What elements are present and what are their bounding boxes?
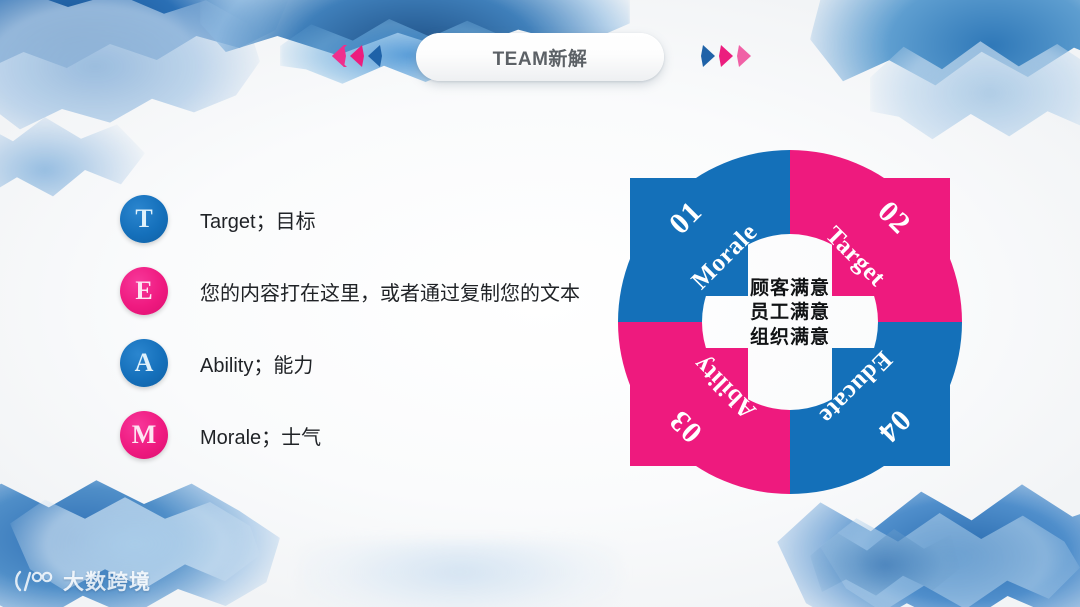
chevron-left-icon: [348, 44, 365, 68]
chevron-group-left: [330, 44, 383, 68]
watermark-label: 大数跨境: [63, 566, 151, 596]
chevron-group-right: [700, 44, 753, 68]
donut-center-text: 顾客满意 员工满意 组织满意: [700, 277, 880, 350]
chevron-left-icon: [366, 44, 383, 68]
list-item-label: Morale；士气: [200, 421, 321, 450]
watercolor-splash-bottom-right-accent: [810, 520, 960, 607]
letter-badge-a: A: [120, 339, 168, 387]
center-line-1: 顾客满意: [700, 277, 880, 301]
slide-title-pill: TEAM新解: [416, 33, 664, 81]
letter-badge-m: M: [120, 411, 168, 459]
center-line-3: 组织满意: [700, 326, 880, 350]
watercolor-splash-bottom-center: [300, 540, 620, 607]
list-item-label: Target；目标: [200, 205, 316, 234]
letter-badge-e: E: [120, 267, 168, 315]
watercolor-splash-top-right: [810, 0, 1080, 140]
chevron-left-icon: [330, 44, 347, 68]
chevron-right-icon: [736, 44, 753, 68]
list-item[interactable]: E 您的内容打在这里，或者通过复制您的文本: [120, 264, 590, 318]
chevron-right-icon: [700, 44, 717, 68]
watercolor-splash-top-left: [0, 0, 290, 120]
watercolor-splash-bottom-right-soft: [820, 500, 1080, 607]
list-item[interactable]: M Morale；士气: [120, 408, 590, 462]
list-item-label: 您的内容打在这里，或者通过复制您的文本: [200, 277, 580, 306]
slide-canvas: TEAM新解 T Target；目标 E 您的内容打在这里，或者通过复制您的文本…: [0, 0, 1080, 607]
page-title: TEAM新解: [493, 44, 588, 71]
chevron-right-icon: [718, 44, 735, 68]
watercolor-splash-top-left-soft: [0, 0, 260, 160]
letter-badge-t: T: [120, 195, 168, 243]
brand-logo-icon: [14, 569, 56, 593]
center-line-2: 员工满意: [700, 301, 880, 325]
list-item[interactable]: T Target；目标: [120, 192, 590, 246]
list-item-label: Ability；能力: [200, 349, 313, 378]
watermark: 大数跨境: [14, 566, 151, 596]
team-acronym-list: T Target；目标 E 您的内容打在这里，或者通过复制您的文本 A Abil…: [120, 192, 590, 480]
list-item[interactable]: A Ability；能力: [120, 336, 590, 390]
